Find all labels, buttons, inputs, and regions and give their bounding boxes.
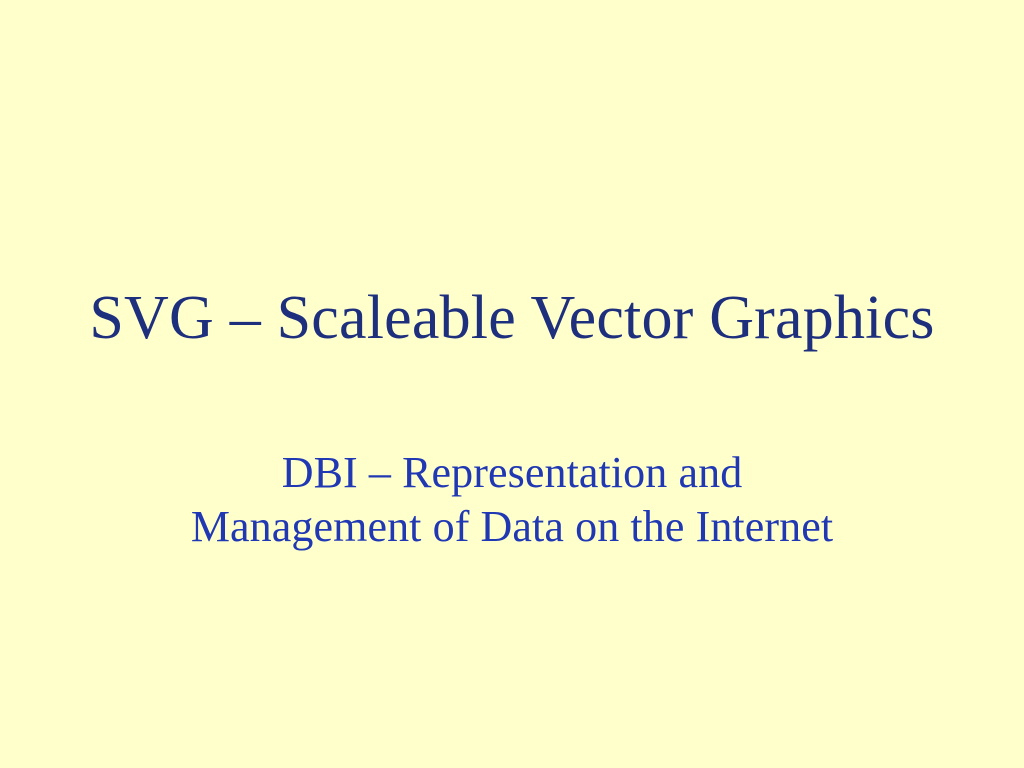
subtitle-line-2: Management of Data on the Internet — [0, 500, 1024, 554]
title-placeholder[interactable]: SVG – Scaleable Vector Graphics — [0, 282, 1024, 354]
subtitle-placeholder[interactable]: DBI – Representation and Management of D… — [0, 446, 1024, 554]
subtitle-line-1: DBI – Representation and — [0, 446, 1024, 500]
presentation-slide: SVG – Scaleable Vector Graphics DBI – Re… — [0, 0, 1024, 768]
slide-title: SVG – Scaleable Vector Graphics — [0, 282, 1024, 354]
slide-content-area: SVG – Scaleable Vector Graphics DBI – Re… — [0, 0, 1024, 768]
